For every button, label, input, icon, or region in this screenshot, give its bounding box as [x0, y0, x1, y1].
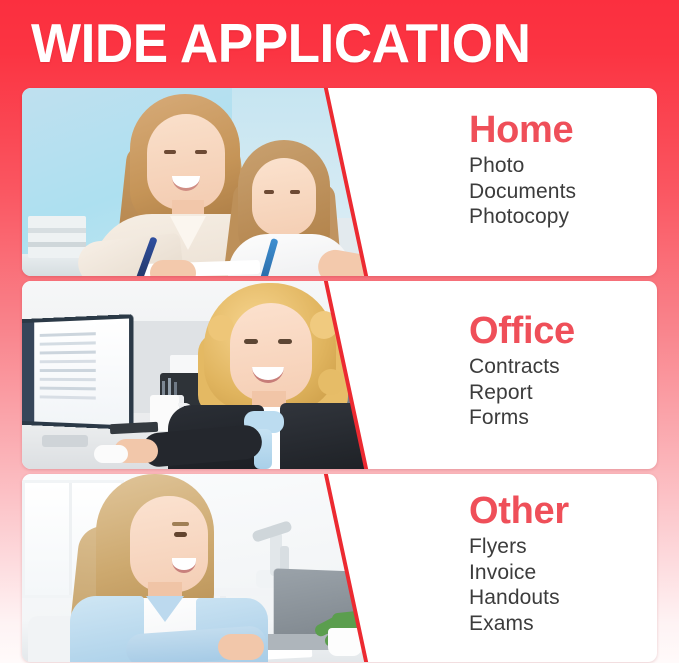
wide-application-poster: WIDE APPLICATION [0, 0, 679, 663]
woman-face [147, 114, 225, 210]
hair-curl [318, 369, 344, 395]
girl-eye-left [264, 190, 274, 194]
woman-eye-right [278, 339, 292, 344]
list-item: Handouts [469, 585, 560, 611]
category-title-office: Office [469, 311, 575, 351]
application-card-office: Office Contracts Report Forms [22, 281, 657, 469]
monitor-sidebar [22, 323, 34, 422]
feature-list-office: Contracts Report Forms [469, 354, 560, 431]
list-item: Flyers [469, 534, 560, 560]
monitor-screen [22, 318, 129, 425]
monitor-text-lines [40, 332, 96, 337]
photo-home [22, 88, 372, 276]
woman-eye [174, 532, 187, 537]
woman-eye-left [244, 339, 258, 344]
monitor [22, 314, 133, 430]
photo-home-scene [22, 88, 372, 276]
list-item: Exams [469, 611, 560, 637]
photo-other-scene [22, 474, 372, 662]
card-text-office: Office Contracts Report Forms [422, 281, 657, 469]
woman-eye-right [195, 150, 207, 154]
card-text-other: Other Flyers Invoice Handouts Exams [422, 474, 657, 662]
application-card-home: Home Photo Documents Photocopy [22, 88, 657, 276]
computer-mouse [94, 445, 128, 463]
photo-office-scene [22, 281, 372, 469]
page-title: WIDE APPLICATION [31, 13, 530, 73]
list-item: Photocopy [469, 204, 576, 230]
application-card-other: Other Flyers Invoice Handouts Exams [22, 474, 657, 662]
woman-eye-left [164, 150, 176, 154]
list-item: Report [469, 380, 560, 406]
category-title-home: Home [469, 110, 573, 150]
list-item: Invoice [469, 560, 560, 586]
list-item: Contracts [469, 354, 560, 380]
woman-hands [218, 634, 264, 660]
woman-hand [150, 260, 196, 276]
photo-other [22, 474, 372, 662]
girl-face [252, 158, 316, 236]
card-text-home: Home Photo Documents Photocopy [422, 88, 657, 276]
monitor-stand [42, 435, 88, 447]
woman-eyebrow [172, 522, 189, 526]
girl-eye-right [290, 190, 300, 194]
woman-face [230, 303, 312, 401]
photo-office [22, 281, 372, 469]
books-stack [28, 216, 86, 258]
list-item: Photo [469, 153, 576, 179]
list-item: Forms [469, 405, 560, 431]
woman-face [130, 496, 208, 592]
feature-list-home: Photo Documents Photocopy [469, 153, 576, 230]
category-title-other: Other [469, 491, 569, 531]
list-item: Documents [469, 179, 576, 205]
feature-list-other: Flyers Invoice Handouts Exams [469, 534, 560, 636]
plant-pot [328, 628, 362, 656]
